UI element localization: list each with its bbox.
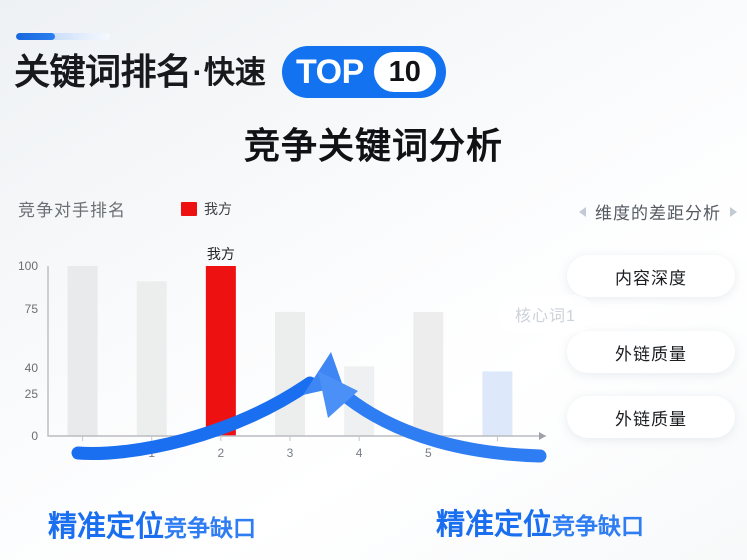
bar [482, 371, 512, 436]
x-axis-tick-label: 2 [206, 446, 236, 460]
x-axis-tick-label: 3 [275, 446, 305, 460]
dimension-card[interactable]: 外链质量 [567, 396, 735, 438]
bar [68, 266, 98, 436]
x-axis-arrow-icon [539, 432, 546, 440]
callout-left-sub: 竞争缺口 [164, 509, 256, 543]
triangle-left-icon [579, 207, 586, 217]
dimension-card[interactable]: 外链质量 [567, 331, 735, 373]
y-axis-tick-label: 0 [4, 429, 38, 443]
bar [344, 366, 374, 436]
y-axis-tick-label: 25 [4, 387, 38, 401]
legend-swatch-icon [181, 202, 197, 216]
y-axis-tick-label: 100 [4, 259, 38, 273]
top-badge-label: TOP [296, 55, 374, 89]
page-title-main: 关键词排名 [14, 54, 192, 90]
x-axis-tick-label: 5 [413, 446, 443, 460]
x-axis-tick-label: 1 [137, 446, 167, 460]
callout-right: 精准定位 竞争缺口 [436, 501, 644, 543]
triangle-right-icon [730, 207, 737, 217]
top-rank-badge[interactable]: TOP 10 [282, 46, 446, 98]
x-axis-tick-label: 0 [68, 446, 98, 460]
bar-chart: 02540751000123455我方 [0, 248, 560, 478]
top-badge-number: 10 [374, 52, 436, 92]
bar [413, 312, 443, 436]
page-title-sub: 快速 [204, 57, 266, 88]
section-heading: 竞争关键词分析 [0, 117, 747, 169]
bar [275, 312, 305, 436]
poster-root: 关键词排名 · 快速 TOP 10 竞争关键词分析 竞争对手排名 我方 维度的差… [0, 0, 747, 560]
progress-bar-fill [16, 33, 55, 40]
bar-chart-canvas [0, 248, 560, 478]
callout-right-main: 精准定位 [436, 501, 552, 543]
x-axis-tick-label: 5 [482, 446, 512, 460]
y-axis-tick-label: 40 [4, 361, 38, 375]
callout-left-main: 精准定位 [48, 503, 164, 545]
right-panel-header: 维度的差距分析 [579, 199, 737, 224]
legend-label: 我方 [204, 199, 232, 219]
progress-bar-track[interactable] [16, 33, 110, 40]
right-panel-title: 维度的差距分析 [595, 199, 721, 224]
chart-caption: 竞争对手排名 [18, 196, 126, 221]
y-axis-tick-label: 75 [4, 302, 38, 316]
bar-value-label: 我方 [207, 244, 235, 264]
chart-legend: 我方 [181, 199, 232, 219]
callout-left: 精准定位 竞争缺口 [48, 503, 256, 545]
dimension-card[interactable]: 内容深度 [567, 255, 735, 297]
bar-highlight [206, 266, 236, 436]
x-axis-tick-label: 4 [344, 446, 374, 460]
page-title-separator: · [193, 57, 203, 88]
callout-right-sub: 竞争缺口 [552, 507, 644, 541]
bar [137, 281, 167, 436]
page-title: 关键词排名 · 快速 [14, 44, 266, 100]
